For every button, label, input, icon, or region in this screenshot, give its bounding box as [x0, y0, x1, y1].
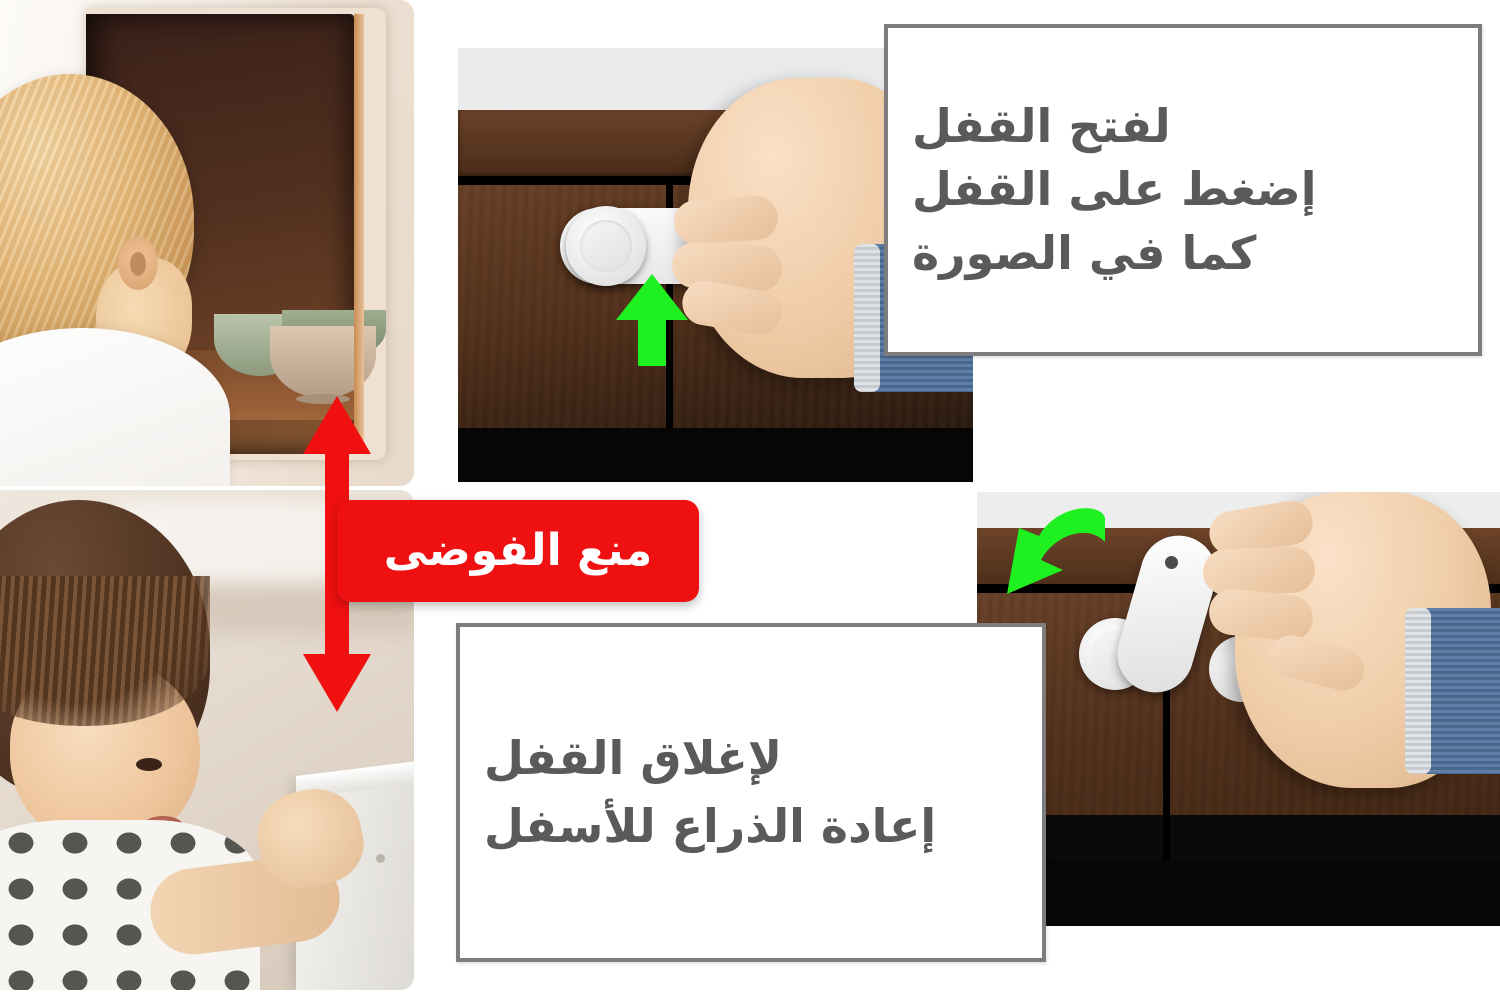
baby-ear — [118, 236, 158, 290]
poster-canvas: منع الفوضى لفتح القفل إضغط على القفل كما… — [0, 0, 1500, 1000]
finger-middle — [1202, 546, 1316, 596]
shadow-base — [977, 860, 1500, 926]
cabinet-door-edge — [354, 14, 364, 454]
drawer-screw — [376, 854, 385, 863]
sleeve-cuff — [1405, 608, 1431, 774]
open-instruction-line-1: لفتح القفل — [912, 95, 1171, 158]
green-up-arrow — [616, 274, 688, 366]
how-to-open-lock-frame: لفتح القفل إضغط على القفل كما في الصورة — [884, 24, 1482, 356]
safety-lock-arm-hole — [1165, 556, 1178, 569]
prevent-mess-badge: منع الفوضى — [337, 500, 699, 602]
toddler-bangs — [0, 576, 210, 726]
green-up-arrow-head — [616, 274, 688, 320]
green-up-arrow-shaft — [638, 316, 666, 366]
open-instruction-line-2: إضغط على القفل — [912, 158, 1317, 221]
green-curved-arrow-svg — [997, 508, 1115, 606]
green-curved-arrow — [997, 508, 1115, 606]
prevent-mess-badge-label: منع الفوضى — [384, 529, 652, 573]
red-arrow-head-up — [303, 396, 371, 454]
sleeve-cuff — [854, 244, 880, 392]
toddler-eye — [136, 758, 162, 771]
open-instruction-line-3: كما في الصورة — [912, 222, 1256, 285]
how-to-close-lock-frame: لإغلاق القفل إعادة الذراع للأسفل — [456, 623, 1046, 962]
close-instruction-line-1: لإغلاق القفل — [484, 725, 782, 792]
finger-index — [673, 194, 780, 245]
red-arrow-head-down — [303, 654, 371, 712]
blue-sweater-sleeve — [1419, 608, 1500, 774]
shadow-base — [458, 428, 973, 482]
close-instruction-line-2: إعادة الذراع للأسفل — [484, 793, 936, 860]
